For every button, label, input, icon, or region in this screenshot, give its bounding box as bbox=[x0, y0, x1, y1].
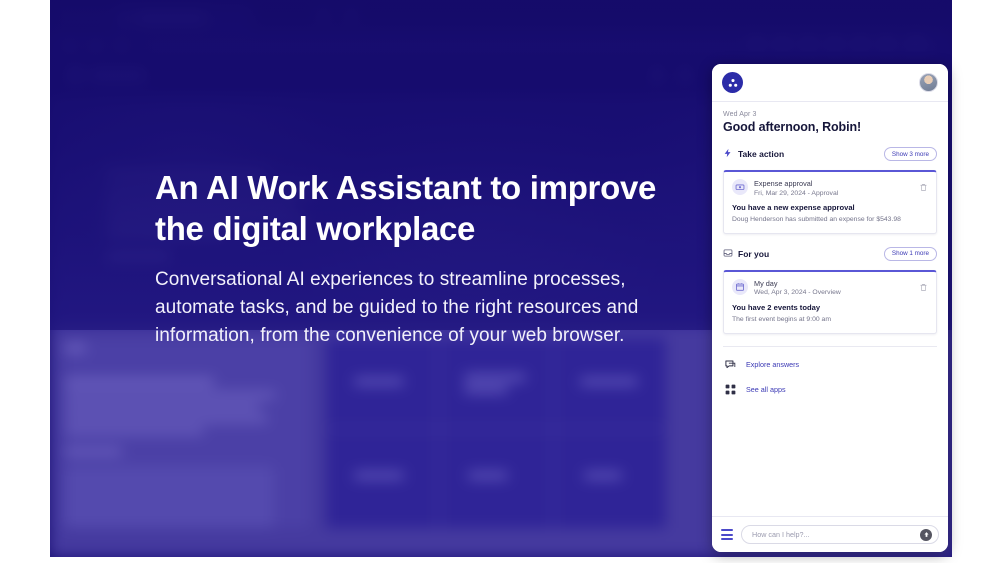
tile-2-label-b-blurred bbox=[464, 386, 508, 393]
tile-4 bbox=[326, 430, 438, 528]
assistant-input-placeholder[interactable]: How can I help?... bbox=[752, 530, 915, 539]
tile-5 bbox=[440, 430, 552, 528]
card-description: Doug Henderson has submitted an expense … bbox=[732, 215, 928, 225]
card-description: The first event begins at 9:00 am bbox=[732, 315, 928, 325]
card-link-blurred bbox=[64, 448, 122, 455]
card-kicker-blurred bbox=[64, 344, 86, 352]
show-more-for-you-button[interactable]: Show 1 more bbox=[884, 247, 937, 261]
greeting-block: Wed Apr 3 Good afternoon, Robin! bbox=[723, 111, 937, 134]
hero-copy-block: An AI Work Assistant to improve the digi… bbox=[155, 168, 675, 350]
section-title-take-action: Take action bbox=[738, 149, 784, 159]
user-avatar[interactable] bbox=[919, 73, 938, 92]
show-more-take-action-button[interactable]: Show 3 more bbox=[884, 147, 937, 161]
card-text-4-blurred bbox=[64, 428, 204, 434]
chat-bubble-icon bbox=[723, 357, 738, 372]
assistant-panel-footer: How can I help?... bbox=[712, 516, 948, 552]
tile-1-label-blurred bbox=[354, 378, 404, 385]
card-timestamp: Wed, Apr 3, 2024 - Overview bbox=[754, 289, 913, 296]
section-header-take-action: Take action Show 3 more bbox=[723, 145, 937, 163]
trash-icon[interactable] bbox=[919, 279, 928, 297]
card-expense-approval[interactable]: Expense approval Fri, Mar 29, 2024 - App… bbox=[723, 170, 937, 234]
page-subtitle: Conversational AI experiences to streaml… bbox=[155, 266, 675, 350]
assistant-panel: Wed Apr 3 Good afternoon, Robin! Take ac… bbox=[712, 64, 948, 552]
screenshot-root: An AI Work Assistant to improve the digi… bbox=[0, 0, 1000, 563]
section-header-for-you: For you Show 1 more bbox=[723, 245, 937, 263]
hamburger-menu-icon[interactable] bbox=[721, 529, 733, 540]
inbox-icon bbox=[723, 245, 733, 263]
trash-icon[interactable] bbox=[919, 179, 928, 197]
card-app-name: My day bbox=[754, 279, 913, 288]
tile-5-label-blurred bbox=[468, 472, 508, 479]
assistant-panel-body[interactable]: Wed Apr 3 Good afternoon, Robin! Take ac… bbox=[712, 102, 948, 516]
greeting-date: Wed Apr 3 bbox=[723, 111, 937, 118]
tile-4-label-blurred bbox=[354, 472, 404, 479]
tile-6 bbox=[554, 430, 666, 528]
tile-2-label-a-blurred bbox=[464, 374, 526, 381]
grid-apps-icon bbox=[723, 382, 738, 397]
tile-3-label-blurred bbox=[580, 378, 638, 385]
page-title: An AI Work Assistant to improve the digi… bbox=[155, 168, 675, 249]
brand-molecule-icon[interactable] bbox=[722, 72, 743, 93]
card-headline: You have 2 events today bbox=[732, 303, 928, 312]
assistant-input-wrapper[interactable]: How can I help?... bbox=[741, 525, 939, 544]
expense-card-icon bbox=[732, 179, 748, 195]
card-my-day[interactable]: My day Wed, Apr 3, 2024 - Overview You h… bbox=[723, 270, 937, 334]
tile-6-label-blurred bbox=[584, 472, 622, 479]
card-app-name: Expense approval bbox=[754, 179, 913, 188]
send-icon[interactable] bbox=[920, 529, 932, 541]
panel-divider bbox=[723, 346, 937, 347]
section-title-for-you: For you bbox=[738, 249, 769, 259]
card-text-1-blurred bbox=[64, 392, 276, 398]
card-text-3-blurred bbox=[64, 416, 268, 422]
link-see-all-apps[interactable]: See all apps bbox=[723, 382, 937, 397]
calendar-icon bbox=[732, 279, 748, 295]
card-headline: You have a new expense approval bbox=[732, 203, 928, 212]
card-text-2-blurred bbox=[64, 404, 260, 410]
link-label: Explore answers bbox=[746, 360, 799, 369]
card-title-blurred bbox=[64, 378, 214, 386]
link-explore-answers[interactable]: Explore answers bbox=[723, 357, 937, 372]
card-image-blurred bbox=[64, 466, 274, 528]
lightning-bolt-icon bbox=[723, 145, 733, 163]
link-label: See all apps bbox=[746, 385, 786, 394]
assistant-panel-header bbox=[712, 64, 948, 102]
greeting-message: Good afternoon, Robin! bbox=[723, 120, 937, 134]
card-timestamp: Fri, Mar 29, 2024 - Approval bbox=[754, 190, 913, 197]
tile-2 bbox=[440, 338, 552, 428]
